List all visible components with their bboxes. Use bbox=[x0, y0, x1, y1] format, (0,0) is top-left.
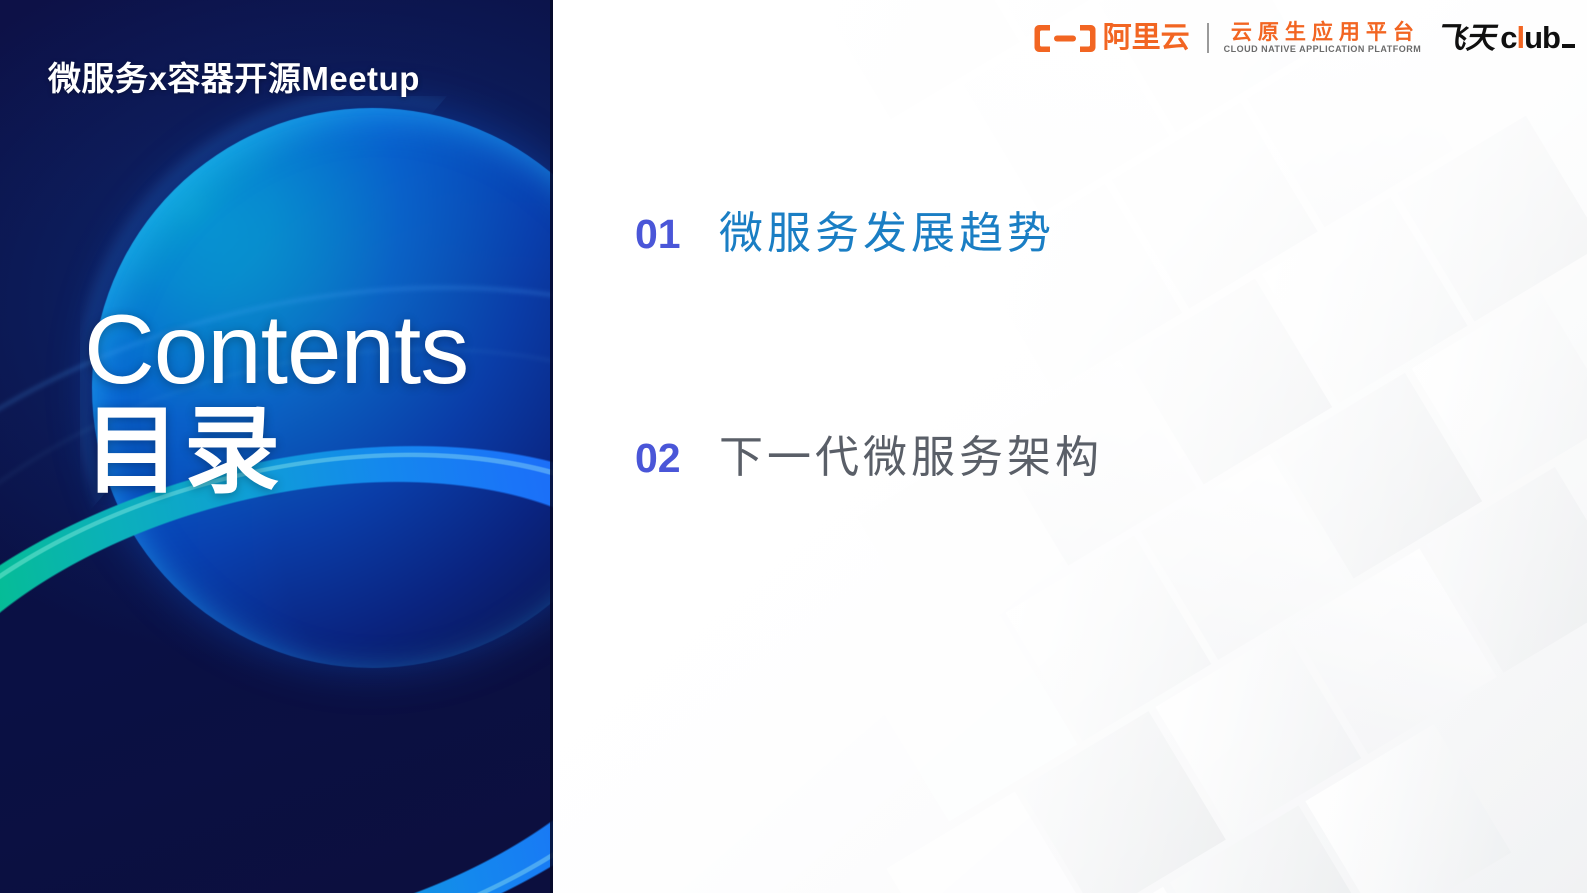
contents-heading-block: Contents 目录 bbox=[84, 300, 553, 500]
agenda-number-01: 01 bbox=[635, 214, 693, 255]
feitian-club-cn: 飞天 bbox=[1435, 24, 1495, 54]
cloud-native-platform-en: CLOUD NATIVE APPLICATION PLATFORM bbox=[1224, 45, 1422, 55]
alibaba-cloud-logo-text: 阿里云 bbox=[1103, 24, 1190, 53]
right-content-panel: 阿里云 云原生应用平台 CLOUD NATIVE APPLICATION PLA… bbox=[553, 0, 1587, 893]
feitian-club-en: club bbox=[1500, 22, 1575, 53]
agenda-label-01: 微服务发展趋势 bbox=[719, 210, 1055, 258]
cloud-native-platform-cn: 云原生应用平台 bbox=[1225, 22, 1420, 44]
agenda-item-02[interactable]: 02 下一代微服务架构 bbox=[635, 434, 1335, 482]
agenda-number-02: 02 bbox=[635, 438, 693, 479]
contents-heading-en: Contents bbox=[84, 300, 553, 398]
feitian-club-en-accent: l bbox=[1517, 20, 1525, 55]
feitian-club-underscore-icon bbox=[1562, 44, 1575, 48]
alibaba-cloud-bracket-icon bbox=[1034, 23, 1096, 54]
feitian-club-logo: 飞天 club bbox=[1435, 22, 1575, 54]
meetup-title: 微服务x容器开源Meetup bbox=[48, 52, 420, 100]
cloud-native-platform-logo: 云原生应用平台 CLOUD NATIVE APPLICATION PLATFOR… bbox=[1224, 22, 1422, 55]
feitian-club-en-post: ub bbox=[1524, 20, 1560, 55]
feitian-club-en-pre: c bbox=[1500, 20, 1516, 55]
alibaba-cloud-logo: 阿里云 bbox=[1034, 23, 1190, 54]
logo-divider bbox=[1207, 23, 1209, 53]
left-cover-panel: 微服务x容器开源Meetup Contents 目录 bbox=[0, 0, 553, 893]
agenda-label-02: 下一代微服务架构 bbox=[719, 434, 1103, 482]
agenda-item-01[interactable]: 01 微服务发展趋势 bbox=[635, 210, 1335, 258]
contents-heading-cn: 目录 bbox=[84, 404, 553, 500]
presentation-slide: 微服务x容器开源Meetup Contents 目录 bbox=[0, 0, 1587, 893]
agenda-list: 01 微服务发展趋势 02 下一代微服务架构 bbox=[635, 210, 1335, 483]
logo-strip: 阿里云 云原生应用平台 CLOUD NATIVE APPLICATION PLA… bbox=[1034, 22, 1575, 55]
